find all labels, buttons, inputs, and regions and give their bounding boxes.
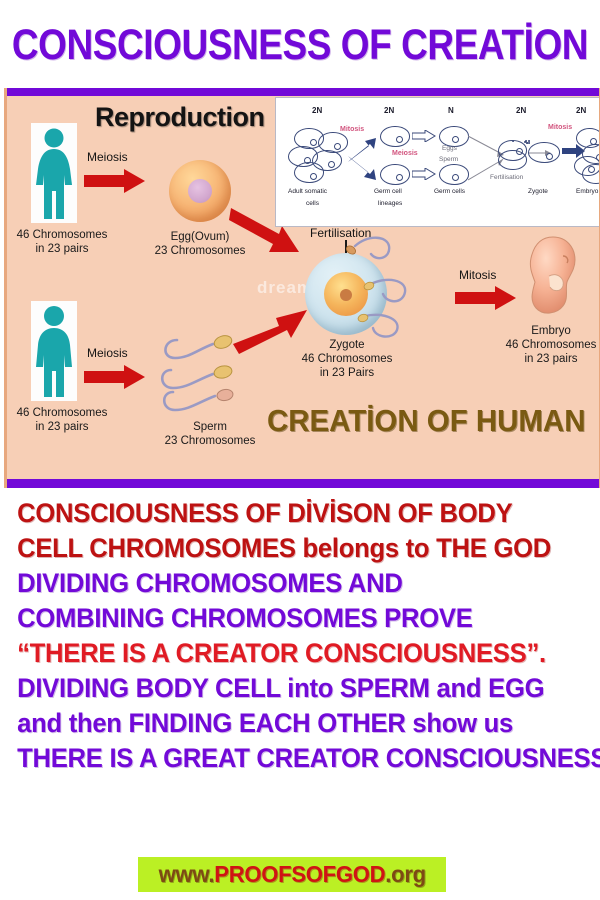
message-line-5: “THERE IS A CREATOR CONSCIOUSNESS”. [0, 636, 570, 671]
message-line-7: and then FINDING EACH OTHER show us [0, 706, 570, 741]
inset-fertilisation-label: Fertilisation [490, 174, 523, 181]
message-line-4: COMBINING CHROMOSOMES PROVE [0, 601, 570, 636]
inset-germ-cell-nucleus [452, 136, 459, 143]
inset-meiosis-label: Meiosis [392, 150, 418, 157]
male-meiosis-label: Meiosis [87, 346, 128, 360]
inset-zygote-cell-shape [528, 142, 530, 144]
inset-germ-lineage-cell [380, 126, 410, 147]
embryo-label-line3: in 23 pairs [499, 352, 600, 366]
message-line-3: DIVIDING CHROMOSOMES AND [0, 566, 570, 601]
panel-bottom-rule [7, 479, 599, 488]
inset-somatic-nucleus [310, 173, 317, 180]
inset-stage-germ-lineage: Germ cell [374, 188, 402, 195]
zygote-label-line3: in 23 Pairs [297, 366, 397, 380]
inset-branch-arrows [348, 138, 382, 180]
inset-open-arrow-bottom [412, 168, 436, 180]
inset-sperm-label: Sperm [439, 156, 458, 163]
inset-ploidy-1: 2N [384, 106, 394, 115]
inset-germ-cell-nucleus [452, 174, 459, 181]
inset-somatic-cell [294, 162, 324, 183]
inset-zygote-outline [528, 142, 560, 163]
egg-cell-icon [169, 160, 231, 222]
inset-mitosis-label-2: Mitosis [548, 124, 572, 131]
website-url[interactable]: www.PROOFSOFGOD.org [158, 861, 425, 888]
female-meiosis-label: Meiosis [87, 150, 128, 164]
sperm-label-line2: 23 Chromosomes [155, 434, 265, 448]
embryo-label: Embryo 46 Chromosomes in 23 pairs [499, 324, 600, 366]
inset-ploidy-4: 2N [576, 106, 586, 115]
female-caption-line2: in 23 pairs [7, 242, 117, 256]
diagram-heading: Reproduction [95, 102, 265, 133]
creation-of-human-caption: CREATİON OF HUMAN [267, 403, 585, 439]
zygote-label-line2: 46 Chromosomes [297, 352, 397, 366]
poster-root: CONSCIOUSNESS OF CREATİON Reproduction d… [0, 0, 600, 900]
inset-fertilisation-nucleus [516, 148, 523, 155]
inset-germ-lineage-nucleus [396, 136, 403, 143]
egg-nucleus-icon [188, 179, 212, 203]
female-figure-icon [31, 123, 77, 223]
female-chromosome-caption: 46 Chromosomes in 23 pairs [7, 228, 117, 256]
poster-title-bar: CONSCIOUSNESS OF CREATİON [0, 14, 600, 76]
inset-stage-germ-lineage-2: lineages [378, 200, 402, 207]
inset-stage-germ-cells: Germ cells [434, 188, 465, 195]
female-meiosis-arrow [84, 169, 146, 193]
zygote-label: Zygote 46 Chromosomes in 23 Pairs [297, 338, 397, 380]
zygote-label-line1: Zygote [297, 338, 397, 352]
zygote-sperm-icons [325, 228, 445, 348]
mitosis-label: Mitosis [459, 268, 496, 282]
male-figure-icon [31, 301, 77, 401]
inset-ploidy-2: N [448, 106, 454, 115]
message-line-1: CONSCIOUSNESS OF DİVİSON OF BODY [0, 496, 570, 531]
male-chromosome-caption: 46 Chromosomes in 23 pairs [7, 406, 117, 434]
website-footer-banner[interactable]: www.PROOFSOFGOD.org [138, 857, 446, 892]
female-caption-line1: 46 Chromosomes [7, 228, 117, 242]
message-block: CONSCIOUSNESS OF DİVİSON OF BODY CELL CH… [0, 496, 600, 776]
message-line-2: CELL CHROMOSOMES belongs to THE GOD [0, 531, 570, 566]
inset-germ-lineage-nucleus [396, 174, 403, 181]
inset-mitosis-label-1: Mitosis [340, 126, 364, 133]
embryo-label-line1: Embryo [499, 324, 600, 338]
male-figure-frame [31, 301, 77, 401]
embryo-label-line2: 46 Chromosomes [499, 338, 600, 352]
inset-zygote-nucleus [546, 153, 553, 160]
lifecycle-inset-diagram: 2N 2N N 2N 2N Mitosis Meiosis Mitosis [275, 97, 600, 227]
inset-zygote-oval [526, 142, 528, 144]
male-meiosis-arrow [84, 365, 146, 389]
inset-somatic-nucleus [328, 161, 335, 168]
inset-stage-embryo: Embryo [576, 188, 598, 195]
message-line-6: DIVIDING BODY CELL into SPERM and EGG [0, 671, 570, 706]
embryo-icon [523, 234, 583, 320]
page-title: CONSCIOUSNESS OF CREATİON [12, 24, 588, 67]
inset-embryo-cell [582, 164, 600, 184]
url-domain: PROOFSOFGOD [214, 861, 385, 887]
inset-open-arrow-top [412, 130, 436, 142]
male-caption-line2: in 23 pairs [7, 420, 117, 434]
inset-somatic-nucleus [334, 143, 341, 150]
sperm-label: Sperm 23 Chromosomes [155, 420, 265, 448]
reproduction-diagram-panel: Reproduction dreamstime 46 Chromosomes i… [4, 88, 600, 488]
mitosis-arrow [455, 286, 517, 310]
message-line-8: THERE IS A GREAT CREATOR CONSCIOUSNESS [0, 741, 570, 776]
inset-eggs-label: Eggs [442, 145, 457, 152]
sperm-label-line1: Sperm [155, 420, 265, 434]
inset-stage-adult-somatic: Adult somatic [288, 188, 327, 195]
male-caption-line1: 46 Chromosomes [7, 406, 117, 420]
inset-somatic-nucleus [310, 139, 317, 146]
female-figure-frame [31, 123, 77, 223]
inset-stage-adult-somatic-2: cells [306, 200, 319, 207]
inset-ploidy-0: 2N [312, 106, 322, 115]
inset-stage-zygote: Zygote [528, 188, 548, 195]
inset-zygote-cell [512, 140, 514, 142]
url-tld: .org [385, 861, 426, 887]
inset-ploidy-3: 2N [516, 106, 526, 115]
panel-top-rule [7, 88, 599, 96]
url-prefix: www. [158, 861, 214, 887]
inset-germ-lineage-cell [380, 164, 410, 185]
